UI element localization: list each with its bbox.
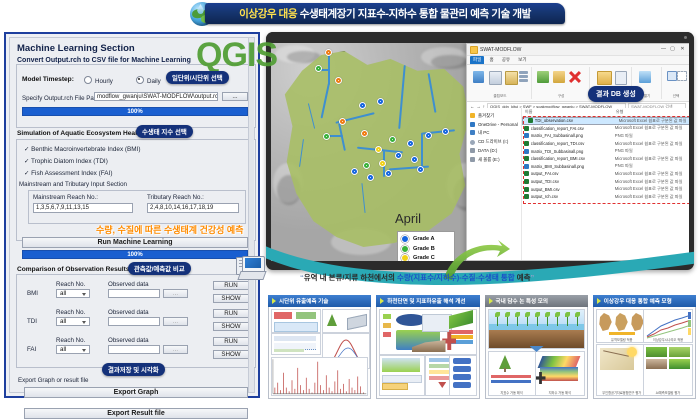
callout-comparison: 관측값/예측값 비교	[128, 262, 191, 275]
bottom-panel-header: 시단위 유출예측 기술	[268, 295, 371, 307]
station-marker[interactable]	[335, 77, 342, 84]
bezel-camera-dot	[684, 36, 687, 39]
row-browse-button[interactable]: ...	[163, 317, 188, 326]
file-name: matrix_FAI_Subbasinall.png	[531, 133, 615, 138]
file-size: 2,854KB	[685, 171, 689, 176]
index-label-tdi: Trophic Diatom Index (TDI)	[31, 158, 108, 165]
bottom-panels: 시단위 유출예측 기술	[268, 295, 696, 399]
pc-keyboard	[237, 271, 266, 280]
bottom-panel-4: 이상강우 대응 통합 예측 모형 유역모델링 적용 이상강우	[593, 295, 696, 399]
bottom-panel-title: 국내 담수 논 특성 모의	[496, 297, 549, 305]
station-marker[interactable]	[339, 118, 346, 125]
close-button[interactable]: ✕	[679, 46, 686, 53]
machine-learning-panel: Machine Learning Section Convert Output.…	[4, 32, 260, 398]
file-type: Microsoft Excel 쉼표로 구분된 값 파일	[615, 141, 685, 147]
thumbnail-uav-survey: 무인항공기자료융합연구 평가	[596, 344, 648, 396]
file-name: output_rch.csv	[531, 194, 615, 199]
station-marker[interactable]	[407, 140, 414, 147]
nav-item-new-volume[interactable]: 새 볼륨 (E:)	[467, 155, 521, 164]
input-section-label: Mainstream and Tributary Input Section	[19, 181, 127, 188]
station-marker[interactable]	[379, 160, 386, 167]
bottom-panel-title: 이상강우 대응 통합 예측 모형	[604, 297, 672, 305]
station-marker[interactable]	[323, 133, 330, 140]
filepath-label: Specify Output.rch File Path:	[22, 95, 101, 102]
thumbnail-caption: 이상강우시나리오 적용	[644, 337, 692, 342]
panel-scrollbar[interactable]	[248, 38, 254, 392]
thumbnail-layers-stack	[449, 355, 477, 396]
nav-label: CD 드라이브 (I:)	[478, 139, 508, 145]
ribbon-group-label: 구성	[533, 94, 589, 99]
row-browse-button[interactable]: ...	[163, 345, 188, 354]
index-label-fai: Fish Assessment Index (FAI)	[31, 170, 112, 177]
open-icon[interactable]	[639, 71, 651, 83]
thumbnail-caption: 무인항공기자료융합연구 평가	[597, 390, 647, 395]
csv-file-icon	[524, 194, 529, 199]
callout-timestep: 일단위/시단위 선택	[166, 71, 229, 84]
qgis-map-canvas[interactable]: April Grade A Grade B Grade C Grade D Gr…	[271, 43, 485, 261]
file-name: classification_report_BMI.csv	[531, 156, 615, 161]
station-marker[interactable]	[395, 152, 402, 159]
station-marker[interactable]	[315, 65, 322, 72]
file-size: 11KB	[685, 164, 689, 169]
station-marker[interactable]	[359, 102, 366, 109]
row-observed-input[interactable]	[108, 289, 160, 298]
table-row[interactable]: TDI_observation.csvMicrosoft Excel 쉼표로 구…	[522, 117, 689, 125]
file-size: 1KB	[685, 141, 689, 146]
bottom-panel-header: 국내 담수 논 특성 모의	[485, 295, 588, 307]
new-folder-icon[interactable]	[597, 71, 612, 85]
timestep-radio-daily[interactable]: Daily	[136, 76, 161, 85]
file-type: PNG 파일	[615, 148, 685, 154]
table-row[interactable]: classification_report_FAI.csvMicrosoft E…	[522, 125, 689, 133]
copy-to-icon[interactable]	[553, 71, 565, 83]
file-type: Microsoft Excel 쉼표로 구분된 값 파일	[615, 186, 685, 192]
file-size: 1KB	[685, 156, 689, 161]
timestep-label: Model Timestep:	[22, 76, 74, 83]
table-row[interactable]: matrix_FAI_Subbasinall.pngPNG 파일17KB	[522, 132, 689, 140]
triangle-bullet-icon	[380, 298, 384, 304]
row-run-button[interactable]: RUN	[213, 309, 249, 318]
filepath-input[interactable]: modflow_gwanju\SWAT-MODFLOW\output.rch	[94, 92, 218, 101]
thumbnail-surface-model: 지표수 거동 해석	[488, 351, 536, 396]
paste-icon[interactable]	[505, 71, 518, 85]
drive-icon	[470, 148, 475, 153]
explorer-ribbon-tabs: 파일 홈 공유 보기	[467, 56, 689, 65]
file-name: matrix_TDI_Subbasinall.png	[531, 149, 615, 154]
callout-ecosystem-index: 수생태 지수 선택	[136, 125, 193, 138]
nav-label: OneDrive - Personal	[478, 122, 518, 127]
tab-file[interactable]: 파일	[470, 56, 484, 64]
cloud-icon	[470, 122, 475, 127]
csv-file-icon	[524, 171, 529, 176]
thumbnail-image	[322, 309, 370, 333]
station-marker[interactable]	[375, 146, 382, 153]
progress-bar-run: 100%	[22, 250, 248, 259]
tab-view[interactable]: 보기	[515, 56, 529, 64]
table-row[interactable]: matrix_BMI_Subbasinall.pngPNG 파일11KB	[522, 163, 689, 171]
mid-caption-part2: 수량(지표수/지하수)-수질-수생태 통합	[397, 273, 515, 282]
page-title-prefix: 이상강우 대응	[239, 8, 297, 20]
station-marker[interactable]	[385, 170, 392, 177]
ml-section-title: Machine Learning Section	[17, 43, 135, 54]
file-name: matrix_BMI_Subbasinall.png	[531, 164, 615, 169]
water-drop-icon	[197, 4, 204, 14]
bottom-panel-title: 하천단면 및 지표하유출 해석 개선	[387, 297, 465, 305]
qgis-screenshot-frame: April Grade A Grade B Grade C Grade D Gr…	[266, 32, 694, 270]
mid-quote-close: ”	[531, 273, 535, 282]
ml-panel-inner: Machine Learning Section Convert Output.…	[9, 37, 255, 393]
page-title-rest: 수생태계장기 지표수-지하수 통합 물관리 예측 기술 개발	[300, 8, 531, 20]
station-marker[interactable]	[425, 132, 432, 139]
table-row[interactable]: output_FAI.csvMicrosoft Excel 쉼표로 구분된 값 …	[522, 170, 689, 178]
ml-convert-label: Convert Output.rch to CSV file for Machi…	[17, 57, 191, 64]
move-to-icon[interactable]	[537, 71, 549, 83]
column-type[interactable]: 유형	[613, 109, 686, 115]
triangle-bullet-icon	[489, 298, 493, 304]
file-type: Microsoft Excel 쉼표로 구분된 값 파일	[615, 125, 685, 131]
screenshot-content: April Grade A Grade B Grade C Grade D Gr…	[271, 43, 689, 261]
filepath-browse-button[interactable]: ...	[222, 92, 248, 101]
file-explorer-window[interactable]: SWAT-MODFLOW — ▢ ✕ 파일 홈 공유 보기	[466, 43, 689, 261]
river-line	[421, 133, 423, 167]
station-marker[interactable]	[377, 98, 384, 105]
progress-bar-convert: 100%	[22, 107, 248, 116]
row-observed-label: Observed data	[108, 309, 149, 316]
thumbnail-field-photos: AI예측모델링 평가	[643, 344, 693, 396]
file-type: Microsoft Excel 쉼표로 구분된 값 파일	[615, 179, 685, 185]
thumbnail-caption: 지표수 거동 해석	[489, 390, 535, 395]
column-size[interactable]: 크기	[686, 109, 689, 115]
bottom-panel-header: 하천단면 및 지표하유출 해석 개선	[376, 295, 479, 307]
nav-label: DATA (D:)	[478, 148, 497, 153]
delete-icon[interactable]	[569, 71, 581, 83]
qgis-watermark: QGIS	[196, 36, 277, 75]
timestep-hourly-label: Hourly	[95, 78, 113, 85]
nav-item-data-drive[interactable]: DATA (D:)	[467, 147, 521, 155]
explorer-title-bar: SWAT-MODFLOW — ▢ ✕	[467, 44, 689, 56]
file-size: 17KB	[685, 133, 689, 138]
callout-export: 결과저장 및 시각화	[102, 363, 165, 376]
row-reach-select[interactable]: all	[56, 317, 90, 326]
bottom-panel-1: 시단위 유출예측 기술	[268, 295, 371, 399]
select-none-icon[interactable]	[677, 71, 687, 81]
station-marker[interactable]	[411, 156, 418, 163]
callout-result-db: 결과 DB 생성	[588, 86, 644, 102]
bottom-panel-body: 지표수 거동 해석 지하수 거동 해석	[485, 307, 588, 399]
csv-file-icon	[524, 187, 529, 192]
file-type: PNG 파일	[615, 163, 685, 169]
station-marker[interactable]	[389, 136, 396, 143]
run-machine-learning-button[interactable]: Run Machine Learning	[22, 237, 248, 248]
thumbnail-paddy-cross-section	[488, 309, 585, 349]
file-type: Microsoft Excel 쉼표로 구분된 값 파일	[615, 156, 685, 162]
export-result-file-button[interactable]: Export Result file	[24, 408, 248, 419]
table-row[interactable]: matrix_TDI_Subbasinall.pngPNG 파일10KB	[522, 147, 689, 155]
station-marker[interactable]	[367, 174, 374, 181]
thumbnail-3d-groundwater: 지하수 거동 해석	[535, 351, 585, 396]
file-name: output_BMI.csv	[531, 187, 615, 192]
row-observed-input[interactable]	[108, 317, 160, 326]
disc-icon	[470, 140, 475, 145]
station-marker[interactable]	[361, 130, 368, 137]
thumbnail-watershed-maps: 유역모델링 적용	[596, 309, 648, 343]
ribbon-group-label: 선택	[663, 94, 689, 99]
row-reach-label: Reach No.	[56, 309, 85, 316]
thumbnail-caption: AI예측모델링 평가	[644, 390, 692, 395]
row-index-label: TDI	[27, 318, 37, 325]
row-reach-label: Reach No.	[56, 337, 85, 344]
timestep-daily-label: Daily	[147, 78, 161, 85]
explorer-ribbon: 클립보드 구성 새로 만들기 열기	[467, 65, 689, 102]
bottom-panel-title: 시단위 유출예측 기술	[279, 297, 328, 305]
poster-title-bar: 이상강우 대응 수생태계장기 지표수-지하수 통합 물관리 예측 기술 개발	[205, 3, 565, 24]
thumbnail-flow-diagram	[379, 355, 425, 396]
pc-icon	[470, 130, 475, 135]
csv-file-icon	[524, 126, 529, 131]
row-show-button[interactable]: SHOW	[213, 322, 249, 331]
thumbnail-image	[271, 309, 321, 333]
station-marker[interactable]	[363, 162, 370, 169]
tab-home[interactable]: 홈	[486, 56, 496, 64]
comparison-section-title: Comparison of Observation Results	[17, 266, 129, 273]
file-type: Microsoft Excel 쉼표로 구분된 값 파일	[615, 171, 685, 177]
file-size: 2,854KB	[685, 179, 689, 184]
bottom-panel-3: 국내 담수 논 특성 모의 지표수 거동 해석	[485, 295, 588, 399]
nav-item-quick-access[interactable]: 즐겨찾기	[467, 111, 521, 120]
row-observed-label: Observed data	[108, 281, 149, 288]
table-row[interactable]: classification_report_TDI.csvMicrosoft E…	[522, 140, 689, 148]
mainstream-label: Mainstream Reach No.:	[33, 194, 98, 201]
nav-label: 새 볼륨 (E:)	[478, 157, 500, 163]
png-file-icon	[524, 149, 529, 154]
star-icon	[470, 113, 475, 118]
nav-item-this-pc[interactable]: 내 PC	[467, 128, 521, 137]
table-row[interactable]: classification_report_BMI.csvMicrosoft E…	[522, 155, 689, 163]
station-marker[interactable]	[325, 49, 332, 56]
file-name: classification_report_FAI.csv	[531, 126, 615, 131]
index-label-bmi: Benthic Macroinvertebrate Index (BMI)	[31, 146, 140, 153]
page-title: 이상강우 대응 수생태계장기 지표수-지하수 통합 물관리 예측 기술 개발	[239, 6, 531, 21]
ribbon-group-label: 클립보드	[469, 94, 531, 99]
file-name: output_TDI.csv	[531, 179, 615, 184]
radio-hourly-icon[interactable]	[84, 76, 92, 84]
csv-file-icon	[524, 179, 529, 184]
nav-item-cd-drive[interactable]: CD 드라이브 (I:)	[467, 138, 521, 147]
export-graph-button[interactable]: Export Graph	[24, 387, 248, 398]
row-index-label: BMI	[27, 290, 38, 297]
bottom-panel-body	[268, 307, 371, 399]
mid-caption: “유역 내 본류/지류 하천에서의 수량(지표수/지하수)-수질-수생태 통합 …	[300, 272, 534, 283]
bottom-panel-body	[376, 307, 479, 399]
computer-workstation-icon	[236, 254, 266, 284]
row-reach-select[interactable]: all	[56, 345, 90, 354]
column-name[interactable]: 이름	[522, 109, 613, 115]
station-marker[interactable]	[442, 128, 449, 135]
png-file-icon	[524, 133, 529, 138]
pin-icon[interactable]	[473, 71, 484, 83]
folder-icon	[470, 46, 478, 54]
file-type: PNG 파일	[615, 133, 685, 139]
station-marker[interactable]	[351, 168, 358, 175]
drive-icon	[470, 157, 475, 162]
map-month-label: April	[395, 211, 421, 226]
index-checkbox-fai[interactable]: ✓ Fish Assessment Index (FAI)	[24, 169, 112, 177]
callout-run-prediction: 수량, 수질에 따른 수생태계 건강성 예측	[96, 223, 243, 236]
csv-file-icon	[528, 118, 533, 123]
triangle-bullet-icon	[272, 298, 276, 304]
row-show-button[interactable]: SHOW	[213, 350, 249, 359]
csv-file-icon	[524, 141, 529, 146]
thumbnail-timeseries	[271, 357, 368, 396]
poster-root: 이상강우 대응 수생태계장기 지표수-지하수 통합 물관리 예측 기술 개발 M…	[0, 0, 700, 402]
file-type: Microsoft Excel 쉼표로 구분된 값 파일	[615, 194, 685, 200]
file-name: output_FAI.csv	[531, 171, 615, 176]
mainstream-input[interactable]: 1,3,5,6,7,9,11,13,15	[33, 203, 133, 213]
row-run-button[interactable]: RUN	[213, 337, 249, 346]
tributary-input[interactable]: 2,4,8,10,14,16,17,18,19	[147, 203, 239, 213]
bottom-panel-body: 유역모델링 적용 이상강우시나리오 적용 무인항공기자료융합연구 평가	[593, 307, 696, 399]
png-file-icon	[524, 164, 529, 169]
nav-label: 즐겨찾기	[478, 113, 494, 119]
file-type: Microsoft Excel 쉼표로 구분된 값 파일	[619, 118, 689, 124]
file-size: 2,854KB	[685, 187, 689, 192]
thumbnail-caption: 유역모델링 적용	[597, 337, 647, 342]
index-checkbox-bmi[interactable]: ✓ Benthic Macroinvertebrate Index (BMI)	[24, 145, 141, 153]
row-index-label: FAI	[27, 346, 36, 353]
table-row[interactable]: output_BMI.csvMicrosoft Excel 쉼표로 구분된 값 …	[522, 185, 689, 193]
radio-daily-icon[interactable]	[136, 76, 144, 84]
triangle-bullet-icon	[597, 298, 601, 304]
rename-icon[interactable]	[615, 71, 627, 85]
thumbnail-image	[271, 333, 321, 355]
minimize-button[interactable]: —	[660, 46, 667, 53]
row-reach-select[interactable]: all	[56, 289, 90, 298]
nav-label: 내 PC	[478, 130, 489, 136]
tab-share[interactable]: 공유	[499, 56, 513, 64]
export-section-label: Export Graph or result file	[18, 377, 89, 384]
file-name: TDI_observation.csv	[535, 118, 619, 123]
file-name: classification_report_TDI.csv	[531, 141, 615, 146]
copy-icon[interactable]	[489, 71, 502, 85]
file-size: 10KB	[685, 149, 689, 154]
row-observed-input[interactable]	[108, 345, 160, 354]
mid-caption-part1: 유역 내 본류/지류 하천에서의	[304, 273, 397, 282]
thumbnail-scenario-chart: 이상강우시나리오 적용	[643, 309, 693, 343]
row-reach-label: Reach No.	[56, 281, 85, 288]
pc-screen	[245, 258, 261, 268]
bottom-panel-header: 이상강우 대응 통합 예측 모형	[593, 295, 696, 307]
index-checkbox-tdi[interactable]: ✓ Trophic Diatom Index (TDI)	[24, 157, 108, 165]
screenshot-bezel-top	[266, 32, 694, 43]
table-row[interactable]: output_TDI.csvMicrosoft Excel 쉼표로 구분된 값 …	[522, 178, 689, 186]
station-marker[interactable]	[417, 166, 424, 173]
csv-file-icon	[524, 156, 529, 161]
cut-text-icon[interactable]	[519, 71, 528, 74]
explorer-window-title: SWAT-MODFLOW	[480, 47, 521, 53]
file-size: 3,871KB	[685, 194, 689, 199]
file-size: 1KB	[685, 126, 689, 131]
timestep-radio-hourly[interactable]: Hourly	[84, 76, 113, 85]
thumbnail-caption: 지하수 거동 해석	[536, 390, 584, 395]
mid-caption-part3: 예측	[515, 273, 531, 282]
nav-item-onedrive[interactable]: OneDrive - Personal	[467, 120, 521, 128]
row-browse-button[interactable]: ...	[163, 289, 188, 298]
tributary-label: Tributary Reach No.:	[147, 194, 204, 201]
ecosystem-section-title: Simulation of Aquatic Ecosystem Health	[17, 130, 143, 137]
thumbnail-watershed-diagram	[379, 309, 476, 355]
select-all-icon[interactable]	[667, 71, 677, 81]
bottom-panel-2: 하천단면 및 지표하유출 해석 개선	[376, 295, 479, 399]
maximize-button[interactable]: ▢	[669, 46, 676, 53]
row-observed-label: Observed data	[108, 337, 149, 344]
file-list-header: 이름 유형 크기	[522, 108, 689, 117]
table-row[interactable]: output_rch.csvMicrosoft Excel 쉼표로 구분된 값 …	[522, 193, 689, 201]
row-show-button[interactable]: SHOW	[213, 294, 249, 303]
